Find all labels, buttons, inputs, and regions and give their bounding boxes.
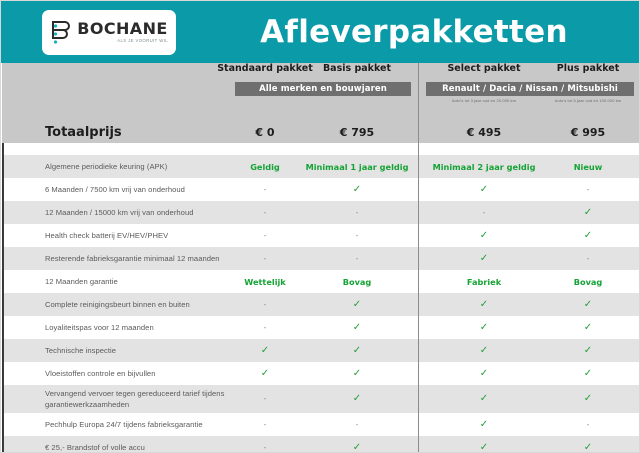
column-header-4: Plus pakket — [533, 63, 640, 74]
bochane-b-mark-icon — [50, 19, 72, 47]
table-row: Pechhulp Europa 24/7 tijdens fabrieksgar… — [2, 413, 640, 436]
check-icon: ✓ — [302, 293, 412, 316]
row-accent — [2, 247, 4, 270]
dash-icon: - — [429, 201, 539, 224]
check-icon: ✓ — [302, 362, 412, 385]
cell-text: Bovag — [533, 270, 640, 293]
column-note-4: Auto's tot 5 jaar oud en 100.000 km — [533, 98, 640, 103]
check-icon: ✓ — [533, 316, 640, 339]
dash-icon: - — [533, 178, 640, 201]
bochane-logo: BOCHANE ALS JE VOORUIT WIL — [42, 10, 176, 55]
row-accent — [2, 178, 4, 201]
row-accent — [2, 201, 4, 224]
spacer-row — [2, 143, 640, 155]
dash-icon: - — [302, 224, 412, 247]
table-row: Complete reinigingsbeurt binnen en buite… — [2, 293, 640, 316]
logo-tagline: ALS JE VOORUIT WIL — [117, 40, 168, 44]
price-4: € 995 — [533, 121, 640, 143]
check-icon: ✓ — [302, 339, 412, 362]
column-header-3: Select pakket — [429, 63, 539, 74]
row-accent — [2, 436, 4, 453]
check-icon: ✓ — [533, 224, 640, 247]
row-accent — [2, 155, 4, 178]
dash-icon: - — [533, 247, 640, 270]
row-accent — [2, 362, 4, 385]
table-row: 12 Maanden / 15000 km vrij van onderhoud… — [2, 201, 640, 224]
check-icon: ✓ — [429, 316, 539, 339]
cell-text: Nieuw — [533, 155, 640, 178]
column-header-2: Basis pakket — [302, 63, 412, 74]
table-row: 12 Maanden garantieWettelijkBovagFabriek… — [2, 270, 640, 293]
group-brandbar-1: Alle merken en bouwjaren — [235, 82, 411, 96]
row-accent — [2, 270, 4, 293]
check-icon: ✓ — [533, 362, 640, 385]
check-icon: ✓ — [533, 339, 640, 362]
table-row: Vervangend vervoer tegen gereduceerd tar… — [2, 385, 640, 413]
table-row: Algemene periodieke keuring (APK)GeldigM… — [2, 155, 640, 178]
check-icon: ✓ — [429, 247, 539, 270]
check-icon: ✓ — [533, 385, 640, 413]
table-header: Standaard pakketBasis pakketSelect pakke… — [2, 63, 640, 121]
dash-icon: - — [302, 413, 412, 436]
row-accent — [2, 339, 4, 362]
group-divider — [418, 63, 419, 453]
check-icon: ✓ — [429, 178, 539, 201]
row-accent — [2, 143, 4, 155]
check-icon: ✓ — [429, 385, 539, 413]
cell-text: Minimaal 2 jaar geldig — [429, 155, 539, 178]
price-3: € 495 — [429, 121, 539, 143]
logo-wordmark: BOCHANE — [77, 21, 167, 37]
dash-icon: - — [302, 247, 412, 270]
group-brandbar-2: Renault / Dacia / Nissan / Mitsubishi — [426, 82, 634, 96]
dash-icon: - — [533, 413, 640, 436]
cell-text: Minimaal 1 jaar geldig — [302, 155, 412, 178]
header-banner: BOCHANE ALS JE VOORUIT WIL Afleverpakket… — [1, 1, 640, 63]
check-icon: ✓ — [533, 436, 640, 453]
row-accent — [2, 316, 4, 339]
page-title: Afleverpakketten — [187, 1, 640, 63]
check-icon: ✓ — [533, 293, 640, 316]
table-row: Technische inspectie✓✓✓✓ — [2, 339, 640, 362]
table-row: Loyaliteitspas voor 12 maanden-✓✓✓ — [2, 316, 640, 339]
table-row: 6 Maanden / 7500 km vrij van onderhoud-✓… — [2, 178, 640, 201]
check-icon: ✓ — [533, 201, 640, 224]
check-icon: ✓ — [302, 178, 412, 201]
cell-text: Bovag — [302, 270, 412, 293]
row-accent — [2, 413, 4, 436]
check-icon: ✓ — [429, 413, 539, 436]
dash-icon: - — [302, 201, 412, 224]
packages-table: Standaard pakketBasis pakketSelect pakke… — [2, 63, 640, 453]
table-row: Resterende fabrieksgarantie minimaal 12 … — [2, 247, 640, 270]
check-icon: ✓ — [429, 339, 539, 362]
check-icon: ✓ — [302, 385, 412, 413]
afleverpakketten-page: BOCHANE ALS JE VOORUIT WIL Afleverpakket… — [0, 0, 640, 453]
check-icon: ✓ — [429, 224, 539, 247]
table-row: Health check batterij EV/HEV/PHEV--✓✓ — [2, 224, 640, 247]
check-icon: ✓ — [429, 436, 539, 453]
row-accent — [2, 293, 4, 316]
total-price-label: Totaalprijs — [45, 121, 122, 143]
check-icon: ✓ — [429, 362, 539, 385]
table-row: Vloeistoffen controle en bijvullen✓✓✓✓ — [2, 362, 640, 385]
column-note-3: Auto's tot 3 jaar oud en 20.000 km — [429, 98, 539, 103]
cell-text: Fabriek — [429, 270, 539, 293]
total-price-row: Totaalprijs€ 0€ 795€ 495€ 995 — [2, 121, 640, 143]
row-accent — [2, 224, 4, 247]
check-icon: ✓ — [429, 293, 539, 316]
price-2: € 795 — [302, 121, 412, 143]
check-icon: ✓ — [302, 436, 412, 453]
row-accent — [2, 385, 4, 413]
check-icon: ✓ — [302, 316, 412, 339]
table-row: € 25,- Brandstof of volle accu-✓✓✓ — [2, 436, 640, 453]
